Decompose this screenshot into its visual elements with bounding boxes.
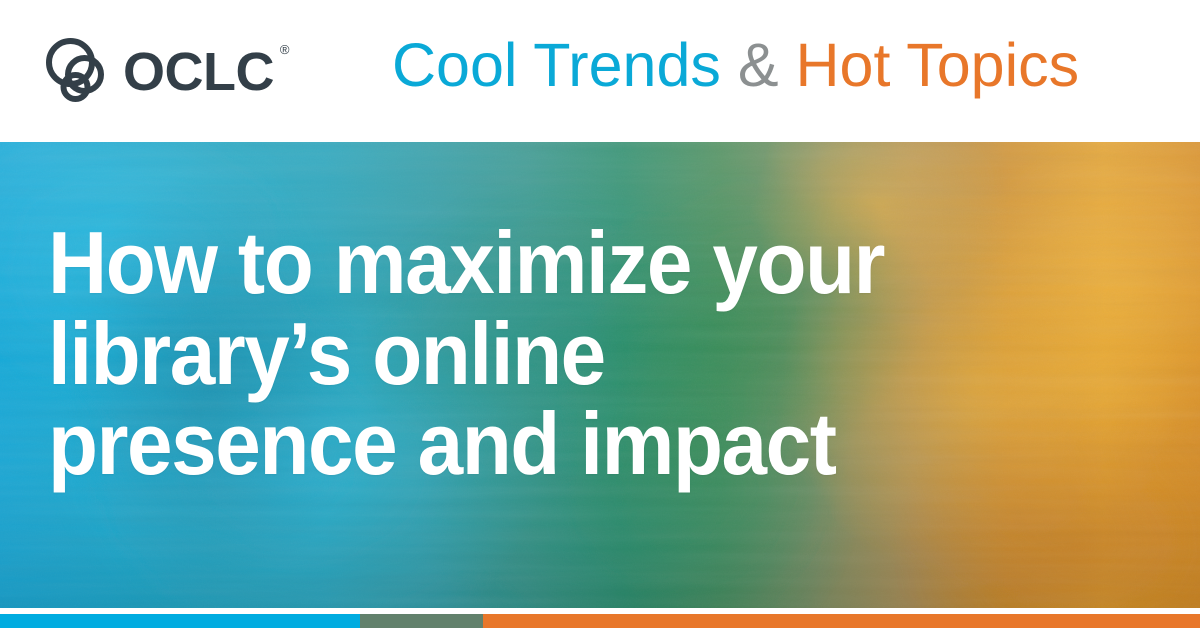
bottom-bar-orange-segment — [483, 614, 1200, 628]
tagline-hot-topics: Hot Topics — [795, 31, 1079, 99]
oclc-wordmark-text: OCLC — [123, 42, 274, 102]
tagline: Cool Trends & Hot Topics — [392, 30, 1079, 102]
tagline-cool-trends: Cool Trends — [392, 31, 738, 99]
headline-line-3: presence and impact — [48, 399, 1062, 490]
header-band: OCLC ® Cool Trends & Hot Topics — [0, 0, 1200, 142]
registered-trademark-icon: ® — [280, 43, 289, 56]
page-title: How to maximize your library’s online pr… — [48, 218, 1062, 490]
hero-section: How to maximize your library’s online pr… — [0, 142, 1200, 608]
bottom-color-bar — [0, 614, 1200, 628]
headline-line-2: library’s online — [48, 309, 1062, 400]
oclc-wordmark: OCLC ® — [123, 41, 274, 99]
oclc-circles-logo-icon — [44, 37, 114, 103]
bottom-bar-cyan-segment — [0, 614, 360, 628]
tagline-ampersand: & — [738, 31, 796, 99]
oclc-promo-banner: OCLC ® Cool Trends & Hot Topics — [0, 0, 1200, 628]
bottom-bar-green-segment — [360, 614, 483, 628]
headline-line-1: How to maximize your — [48, 218, 1062, 309]
oclc-logo[interactable]: OCLC ® — [44, 36, 274, 104]
